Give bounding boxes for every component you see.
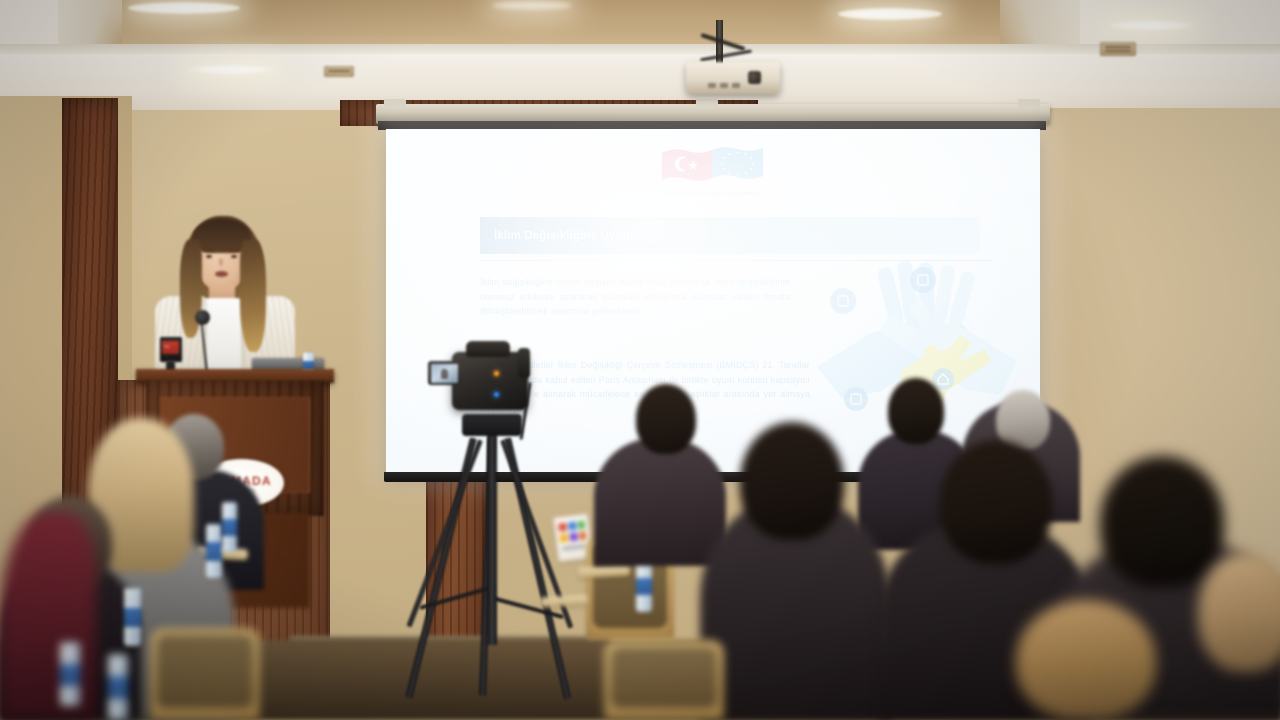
conference-room-photo: TÜRKİYE CUMHURİYETİ / AVRUPA BİRLİĞİ İkl… xyxy=(0,0,1280,720)
camera-microphone xyxy=(518,348,530,378)
attendee-head-foreground xyxy=(1100,456,1224,588)
tripod-head xyxy=(462,414,522,436)
camera-lens-hood xyxy=(466,341,510,357)
speaker-mouth xyxy=(215,271,228,277)
ceiling-light xyxy=(492,1,572,10)
water-bottle[interactable] xyxy=(222,502,237,552)
attendee-head xyxy=(636,384,696,454)
tripod-center-column xyxy=(487,430,497,645)
water-bottle[interactable] xyxy=(60,642,80,706)
ceiling-air-vent xyxy=(1100,42,1136,56)
camera-record-led xyxy=(494,371,499,376)
attendee-hijab-maroon xyxy=(0,512,96,720)
ceiling-light xyxy=(1108,20,1194,31)
camera-lcd-screen[interactable] xyxy=(428,361,460,385)
attendee-shoulders xyxy=(594,438,726,566)
attendee-hair-blonde-foreground xyxy=(1198,552,1280,672)
ceiling-projector xyxy=(686,62,780,94)
chair xyxy=(150,628,260,720)
speaker-eyebrow xyxy=(203,249,215,251)
camera-power-led xyxy=(494,392,499,397)
press-microphone-flag: TV xyxy=(160,337,182,362)
video-camera[interactable] xyxy=(452,352,528,410)
ceiling-recess-right-bevel xyxy=(1000,0,1080,48)
water-bottle[interactable] xyxy=(636,560,652,612)
microphone-head xyxy=(195,310,210,325)
water-bottle[interactable] xyxy=(108,654,128,720)
speaker-eye xyxy=(206,255,212,258)
ceiling-light xyxy=(838,8,942,20)
ceiling-air-vent xyxy=(324,66,354,77)
water-bottle[interactable] xyxy=(124,588,141,646)
ceiling-light xyxy=(186,64,276,75)
speaker-eyebrow xyxy=(229,249,241,251)
ceiling-light xyxy=(128,2,240,14)
attendee-head xyxy=(888,378,944,444)
water-bottle[interactable] xyxy=(206,524,222,578)
attendee-head-foreground xyxy=(940,440,1052,564)
attendee-head-foreground xyxy=(740,422,844,540)
ceiling-recess-left-bevel xyxy=(58,0,122,46)
speaker-hair-strand xyxy=(240,240,266,352)
projector-lens xyxy=(748,71,761,84)
speaker-nose xyxy=(219,258,223,266)
speaker-eye xyxy=(231,255,237,258)
attendee-hair-blonde-foreground xyxy=(1016,600,1156,720)
chair xyxy=(604,640,724,720)
